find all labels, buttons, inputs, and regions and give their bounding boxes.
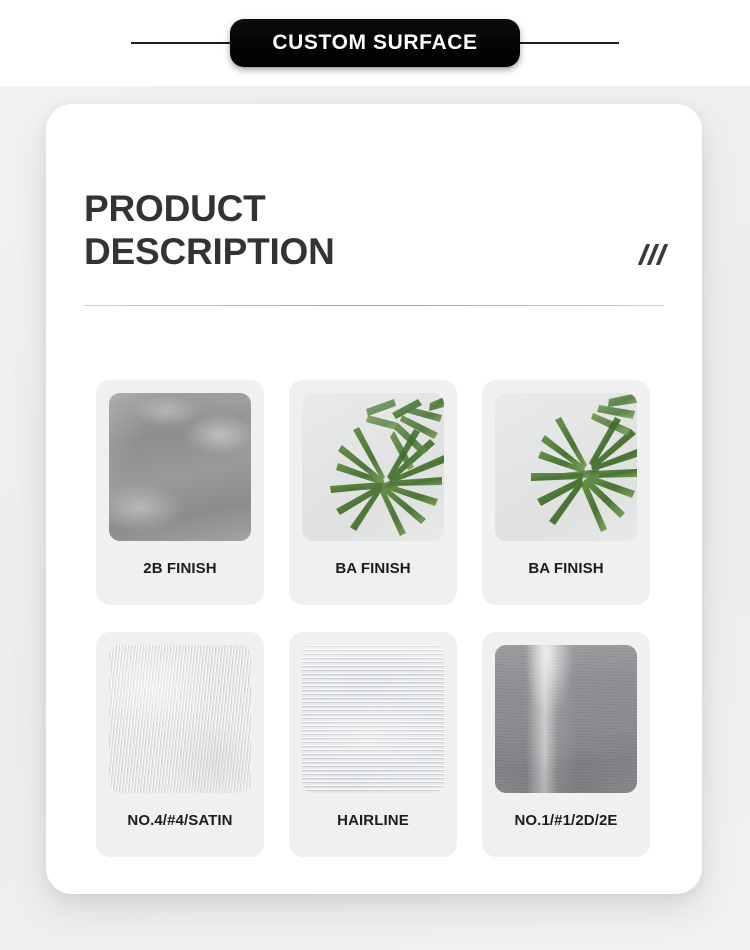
- custom-surface-banner: CUSTOM SURFACE: [230, 19, 519, 67]
- title-row: PRODUCT DESCRIPTION: [84, 188, 664, 273]
- product-description-panel: PRODUCT DESCRIPTION 2B FINISH: [46, 104, 702, 894]
- swatch-no1-2d-2e: [495, 645, 637, 793]
- card-label-hairline: HAIRLINE: [337, 812, 409, 829]
- card-no1-2d-2e[interactable]: NO.1/#1/2D/2E: [482, 632, 650, 857]
- card-hairline[interactable]: HAIRLINE: [289, 632, 457, 857]
- slashes-decoration-icon: [642, 244, 664, 273]
- card-label-2b-finish: 2B FINISH: [143, 560, 216, 577]
- page-title: PRODUCT DESCRIPTION: [84, 188, 335, 273]
- title-divider: [84, 305, 664, 306]
- swatch-ba-finish-1: [302, 393, 444, 541]
- card-label-no4-satin: NO.4/#4/SATIN: [127, 812, 232, 829]
- card-no4-satin[interactable]: NO.4/#4/SATIN: [96, 632, 264, 857]
- swatch-hairline: [302, 645, 444, 793]
- page-header: CUSTOM SURFACE: [0, 0, 750, 86]
- card-ba-finish-2[interactable]: BA FINISH: [482, 380, 650, 605]
- card-2b-finish[interactable]: 2B FINISH: [96, 380, 264, 605]
- card-label-ba-finish-2: BA FINISH: [528, 560, 603, 577]
- surface-finish-grid: 2B FINISH: [96, 380, 664, 857]
- swatch-2b-finish: [109, 393, 251, 541]
- card-label-no1-2d-2e: NO.1/#1/2D/2E: [514, 812, 617, 829]
- palm-leaf-reflection-icon: [495, 393, 637, 541]
- card-ba-finish-1[interactable]: BA FINISH: [289, 380, 457, 605]
- title-block: PRODUCT DESCRIPTION: [84, 188, 664, 306]
- swatch-no4-satin: [109, 645, 251, 793]
- swatch-ba-finish-2: [495, 393, 637, 541]
- header-rule-right: [519, 42, 619, 44]
- header-rule-left: [131, 42, 231, 44]
- banner-title: CUSTOM SURFACE: [272, 32, 477, 53]
- palm-leaf-reflection-icon: [302, 393, 444, 541]
- card-label-ba-finish-1: BA FINISH: [335, 560, 410, 577]
